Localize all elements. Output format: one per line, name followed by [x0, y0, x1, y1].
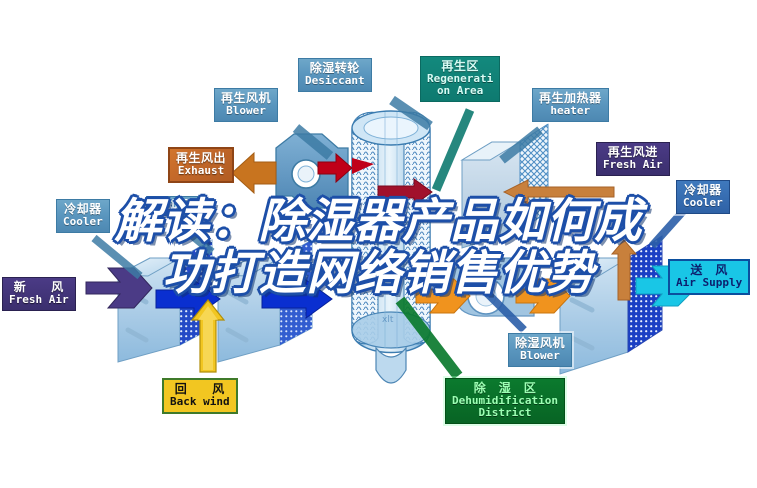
label-regeneration-blower: 再生风机 Blower [214, 88, 278, 122]
label-dehumidification-blower: 除湿风机 Blower [508, 333, 572, 367]
label-fresh-air-in-en: Fresh Air [9, 294, 69, 306]
label-dehumid-district-cn: 除 湿 区 [452, 382, 558, 395]
label-desiccant-wheel-en: Desiccant [305, 75, 365, 87]
label-regeneration-exhaust-cn: 再生风出 [176, 152, 226, 165]
label-regeneration-exhaust: 再生风出 Exhaust [168, 147, 234, 183]
arrow-exhaust-out [232, 153, 276, 193]
label-air-supply-en: Air Supply [676, 277, 742, 289]
label-fresh-air-in: 新 风 Fresh Air [2, 277, 76, 311]
label-dehumid-blower-en: Blower [515, 350, 565, 362]
label-air-supply-cn: 送 风 [676, 264, 742, 277]
label-desiccant-wheel-cn: 除湿转轮 [305, 62, 365, 75]
label-desiccant-wheel: 除湿转轮 Desiccant [298, 58, 372, 92]
label-regeneration-area-cn: 再生区 [427, 60, 493, 73]
label-dehumid-blower-cn: 除湿风机 [515, 337, 565, 350]
label-fresh-air-in-cn: 新 风 [9, 281, 69, 294]
label-cooler-right-cn: 冷却器 [683, 184, 723, 197]
label-cooler-left-cn: 冷却器 [63, 203, 103, 216]
label-regeneration-area-en2: on Area [427, 85, 493, 97]
label-regeneration-blower-cn: 再生风机 [221, 92, 271, 105]
label-dehumidification-district: 除 湿 区 Dehumidification District [445, 378, 565, 424]
label-cooler-right-en: Cooler [683, 197, 723, 209]
label-cooler-left: 冷却器 Cooler [56, 199, 110, 233]
heater-coil [462, 124, 548, 248]
cooler-coil-right [560, 236, 662, 374]
label-regeneration-blower-en: Blower [221, 105, 271, 117]
label-dehumid-district-en2: District [452, 407, 558, 419]
desiccant-rotor: xlt [352, 111, 430, 383]
label-cooler-left-en: Cooler [63, 216, 103, 228]
label-cooler-right: 冷却器 Cooler [676, 180, 730, 214]
diagram-canvas: xlt [0, 0, 757, 488]
label-cooler-mid: 冷却器 [146, 196, 198, 216]
label-regeneration-exhaust-en: Exhaust [176, 165, 226, 177]
label-regeneration-heater-en: heater [539, 105, 602, 117]
label-regeneration-heater: 再生加热器 heater [532, 88, 609, 122]
label-back-wind-en: Back wind [170, 396, 230, 408]
svg-text:xlt: xlt [382, 315, 394, 325]
label-air-supply: 送 风 Air Supply [668, 259, 750, 295]
label-cooler-mid-cn: 冷却器 [153, 199, 191, 212]
label-regeneration-area: 再生区 Regenerati on Area [420, 56, 500, 102]
label-regeneration-fresh-air-in: 再生风进 Fresh Air [596, 142, 670, 176]
label-regen-fresh-air-cn: 再生风进 [603, 146, 663, 159]
label-regen-fresh-air-en: Fresh Air [603, 159, 663, 171]
schematic-artwork: xlt [0, 0, 757, 488]
label-back-wind: 回 风 Back wind [162, 378, 238, 414]
label-regeneration-heater-cn: 再生加热器 [539, 92, 602, 105]
label-back-wind-cn: 回 风 [170, 383, 230, 396]
